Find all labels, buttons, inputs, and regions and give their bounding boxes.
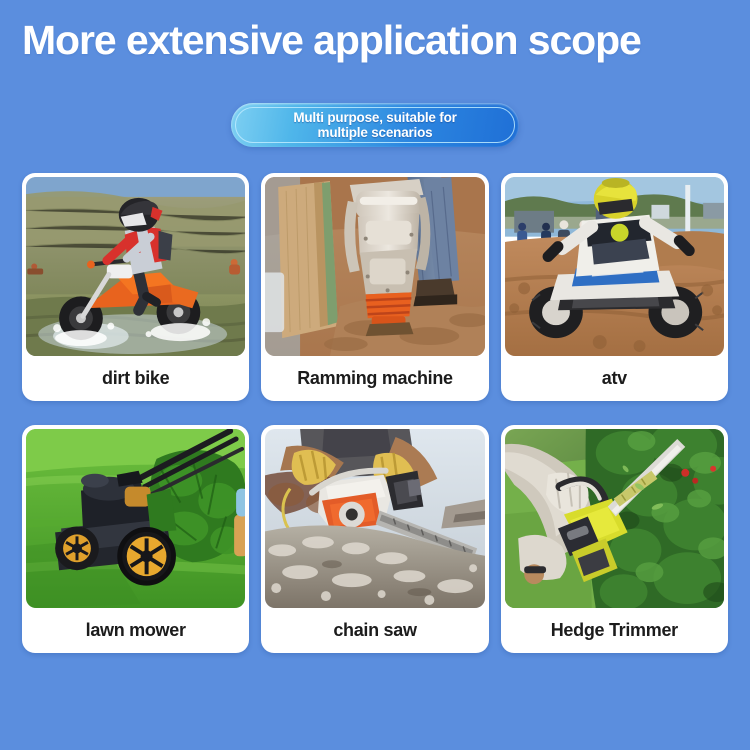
dirt-bike-photo bbox=[26, 177, 245, 356]
application-card[interactable]: Hedge Trimmer bbox=[501, 425, 728, 653]
application-card[interactable]: lawn mower bbox=[22, 425, 249, 653]
badge-line-2: multiple scenarios bbox=[318, 125, 433, 140]
atv-photo bbox=[505, 177, 724, 356]
status-badge: Multi purpose, suitable for multiple sce… bbox=[231, 103, 519, 147]
card-caption: Ramming machine bbox=[265, 356, 484, 401]
ramming-machine-photo bbox=[265, 177, 484, 356]
card-caption: chain saw bbox=[265, 608, 484, 653]
card-caption: Hedge Trimmer bbox=[505, 608, 724, 653]
application-card[interactable]: Ramming machine bbox=[261, 173, 488, 401]
application-card[interactable]: dirt bike bbox=[22, 173, 249, 401]
card-caption: dirt bike bbox=[26, 356, 245, 401]
card-caption: atv bbox=[505, 356, 724, 401]
application-card[interactable]: atv bbox=[501, 173, 728, 401]
card-caption: lawn mower bbox=[26, 608, 245, 653]
badge-text: Multi purpose, suitable for multiple sce… bbox=[279, 110, 470, 140]
hedge-trimmer-photo bbox=[505, 429, 724, 608]
application-card-grid: dirt bike bbox=[22, 173, 728, 653]
badge-container: Multi purpose, suitable for multiple sce… bbox=[0, 103, 750, 147]
page-title: More extensive application scope bbox=[22, 18, 728, 63]
chain-saw-photo bbox=[265, 429, 484, 608]
application-card[interactable]: chain saw bbox=[261, 425, 488, 653]
lawn-mower-photo bbox=[26, 429, 245, 608]
badge-line-1: Multi purpose, suitable for bbox=[293, 110, 456, 125]
